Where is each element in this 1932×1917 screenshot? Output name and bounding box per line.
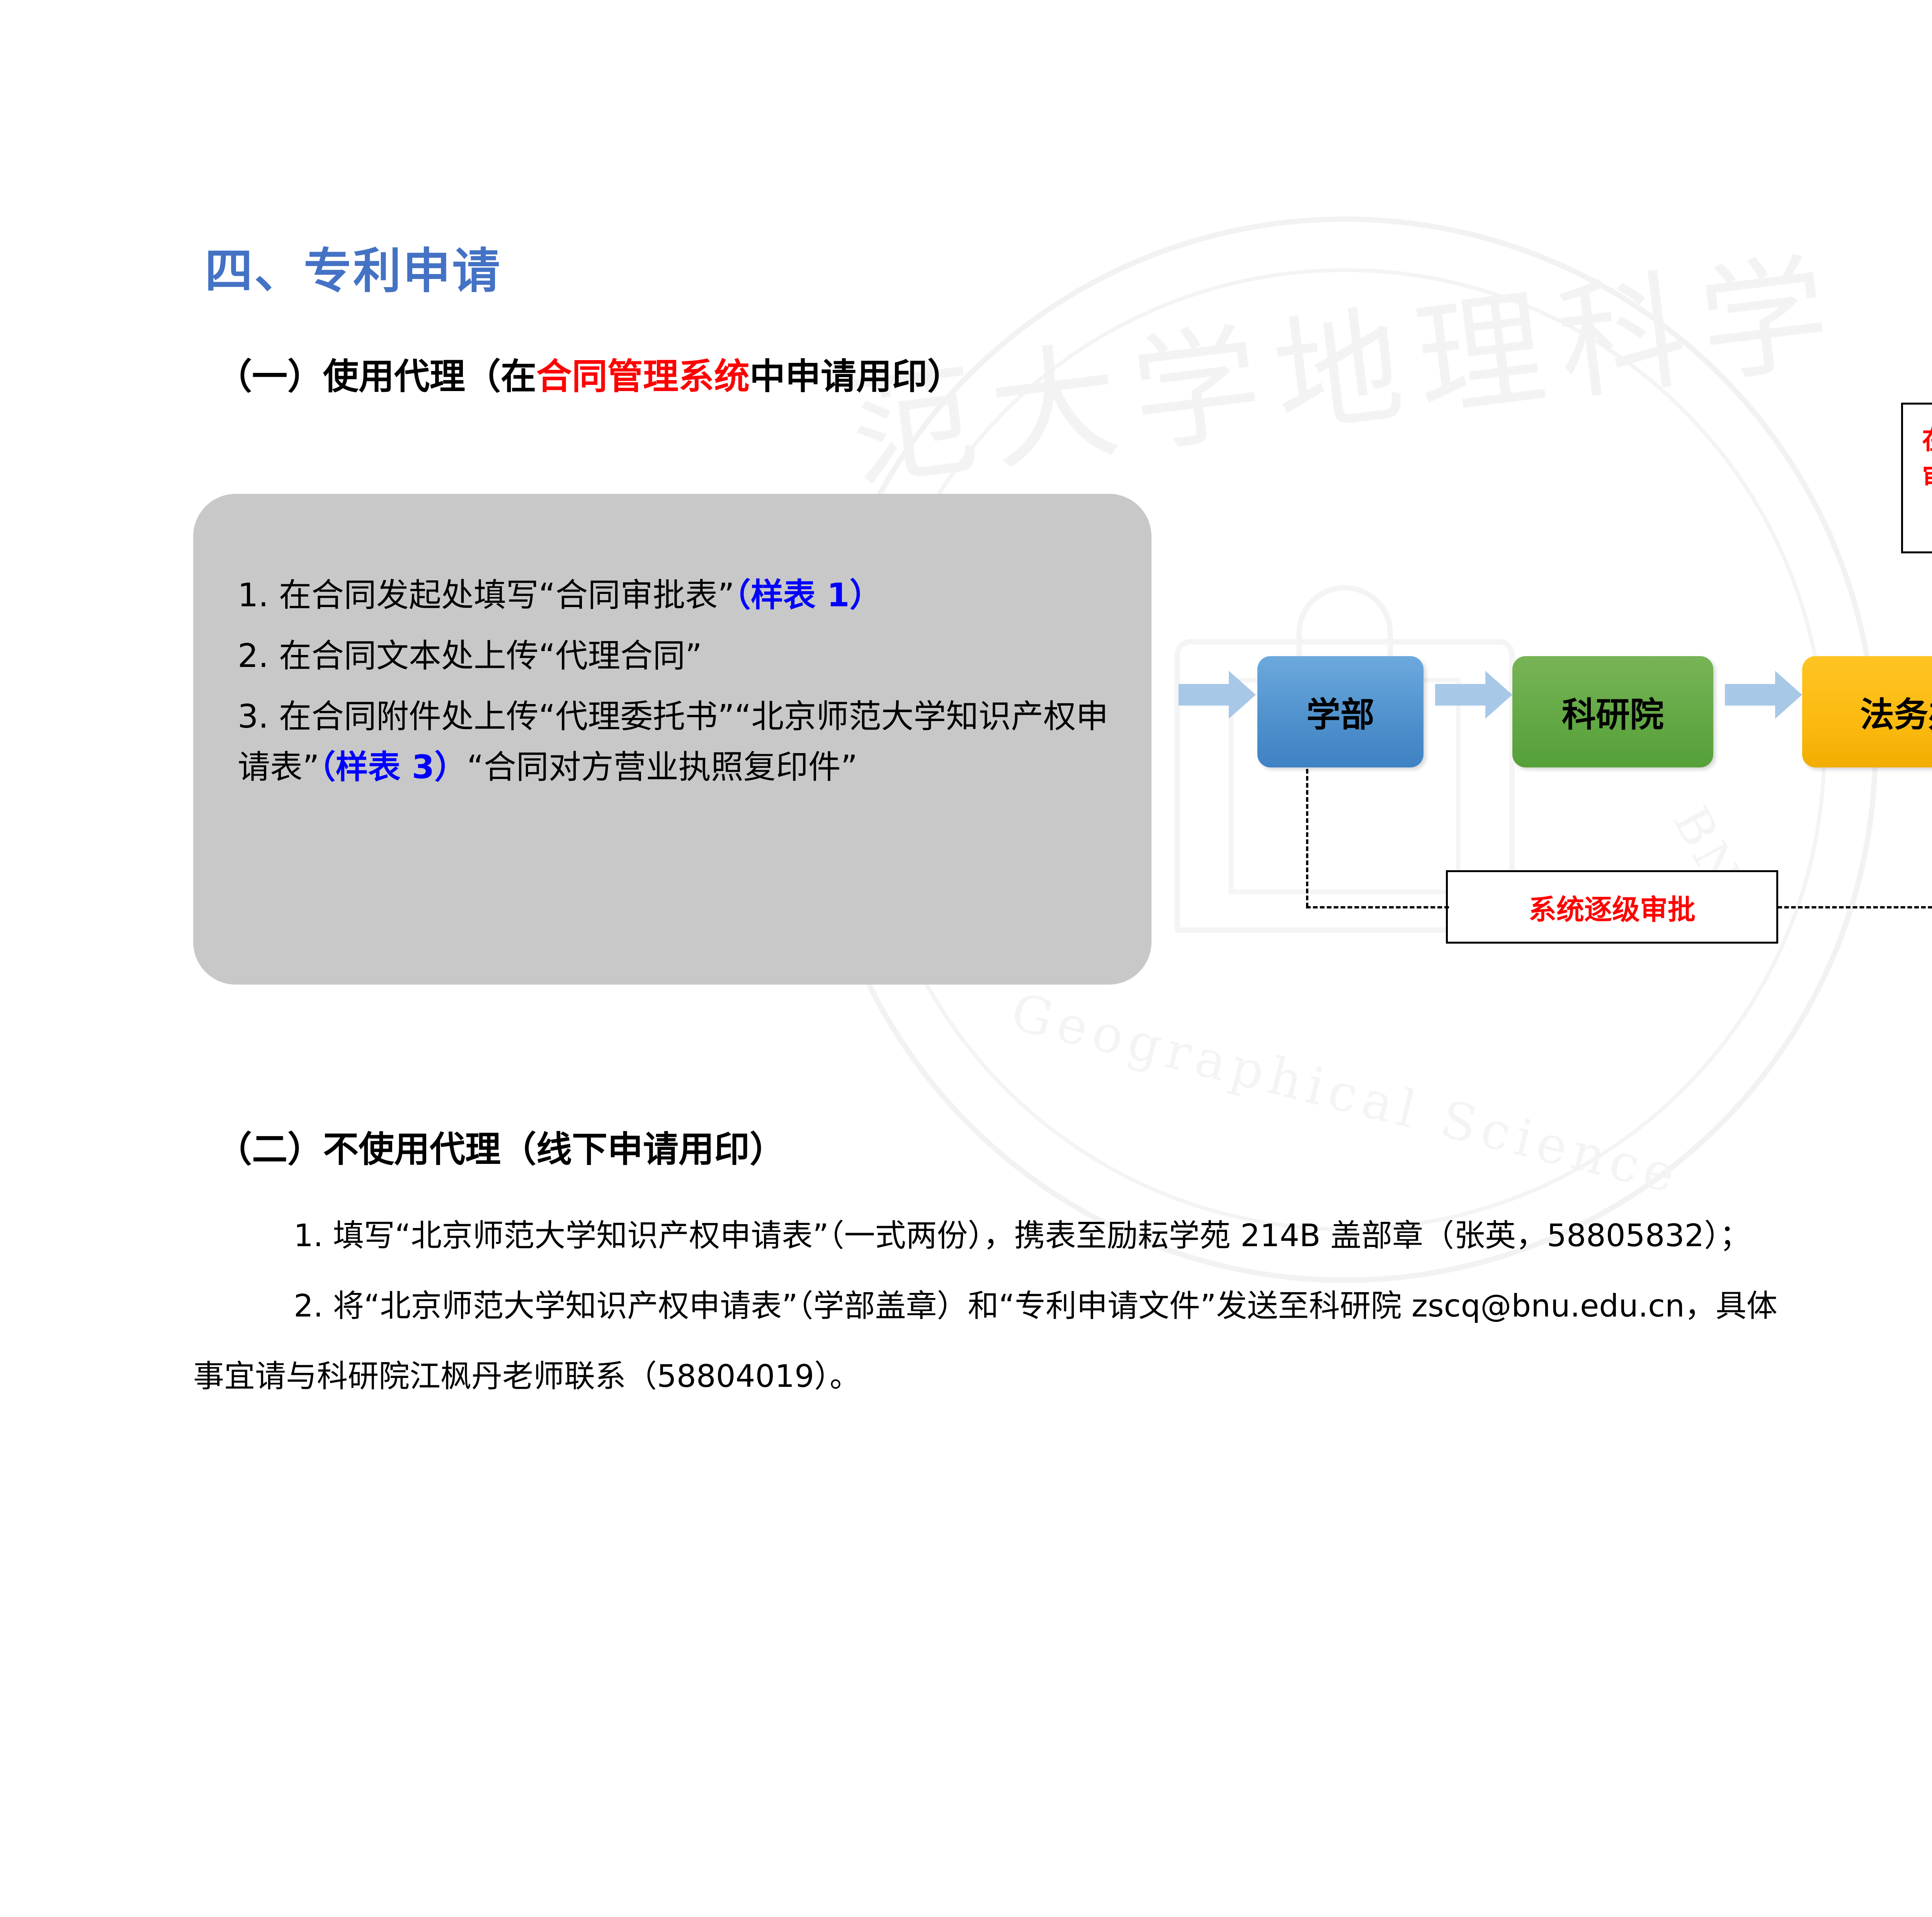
callout-system-text: 系统逐级审批 (1529, 887, 1696, 927)
callout-print-note: 在系统中打印各部门审核通过的审批表，携需盖校印合同及委托书 (1901, 403, 1932, 553)
flow-arrow-entry (1179, 671, 1256, 719)
arrow-head (1485, 671, 1512, 719)
list-item-number: 1. (238, 576, 269, 614)
list-item-ref: （样表 3） (320, 748, 467, 786)
list-item-ref: （样表 1） (735, 576, 882, 614)
arrow-shaft (1725, 684, 1775, 706)
arrow-head (1775, 671, 1802, 719)
list-item-text: 在合同文本处上传“代理合同” (269, 637, 702, 675)
dotted-connector-system-bottom (1306, 906, 1449, 908)
section-1-title-suffix: 中申请用印） (750, 356, 963, 397)
flow-arrow-1 (1435, 671, 1512, 719)
section-1-title-highlight: 合同管理系统 (536, 356, 750, 397)
dotted-connector-system-left (1306, 769, 1308, 907)
flow-node-keyanyuan[interactable]: 科研院 (1512, 656, 1713, 767)
section-2-title: （二）不使用代理（线下申请用印） (216, 1121, 785, 1172)
dotted-connector-system-bottom-right (1777, 906, 1932, 908)
arrow-shaft (1179, 684, 1229, 706)
instructions-list: 1. 在合同发起处填写“合同审批表”（样表 1） 2. 在合同文本处上传“代理合… (238, 570, 1126, 803)
section-2-paragraph-1: 1. 填写“北京师范大学知识产权申请表”（一式两份），携表至励耘学苑 214B … (294, 1220, 1750, 1251)
section-1-title-prefix: （一）使用代理（在 (216, 356, 536, 397)
flow-arrow-2 (1725, 671, 1802, 719)
list-item: 2. 在合同文本处上传“代理合同” (238, 631, 1126, 681)
list-item: 1. 在合同发起处填写“合同审批表”（样表 1） (238, 570, 1126, 621)
callout-print-text: 在系统中打印各部门审核通过的审批表，携需盖校印合同及委托书 (1912, 422, 1932, 534)
section-2-paragraph-2-line-2: 事宜请与科研院江枫丹老师联系（58804019）。 (193, 1361, 861, 1392)
flow-node-label: 学部 (1306, 687, 1374, 737)
section-2-paragraph-2-line-1: 2. 将“北京师范大学知识产权申请表”（学部盖章）和“专利申请文件”发送至科研院… (294, 1291, 1777, 1322)
list-item-text-after: “合同对方营业执照复印件” (467, 748, 857, 786)
flow-node-label: 科研院 (1562, 687, 1664, 737)
list-item-number: 2. (238, 637, 269, 675)
page-title: 四、专利申请 (205, 232, 502, 301)
list-item-text: 在合同发起处填写“合同审批表” (269, 576, 735, 614)
section-1-title: （一）使用代理（在合同管理系统中申请用印） (216, 348, 963, 399)
flow-node-xuebu-1[interactable]: 学部 (1257, 656, 1423, 767)
arrow-shaft (1435, 684, 1485, 706)
callout-system-note: 系统逐级审批 (1446, 870, 1778, 944)
arrow-head (1229, 671, 1256, 719)
flow-node-label: 法务办公室 (1860, 687, 1932, 737)
list-item-number: 3. (238, 697, 269, 735)
flow-node-fawu[interactable]: 法务办公室 (1802, 656, 1932, 767)
list-item: 3. 在合同附件处上传“代理委托书”“北京师范大学知识产权申请表”（样表 3）“… (238, 691, 1126, 793)
